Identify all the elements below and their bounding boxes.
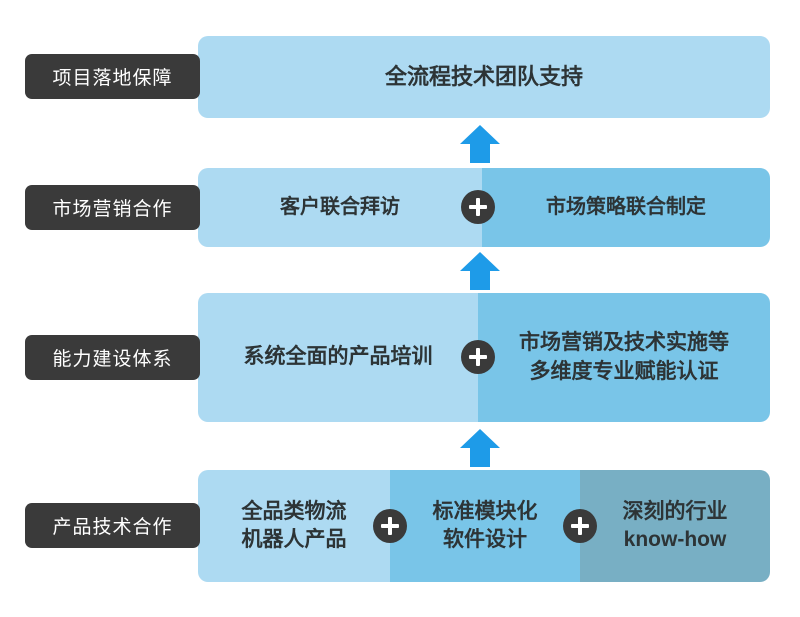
stage-label-text: 市场营销合作 xyxy=(52,194,172,221)
arrow-up-icon xyxy=(459,428,501,468)
stage-label-capability-building: 能力建设体系 xyxy=(25,335,200,380)
plus-circle-icon xyxy=(461,340,495,374)
stage-label-text: 能力建设体系 xyxy=(52,344,172,371)
stage-label-product-technology: 产品技术合作 xyxy=(25,503,200,548)
capability-pyramid-diagram: 项目落地保障 全流程技术团队支持 市场营销合作 客户联合拜访 市场策略联合制定 xyxy=(0,0,800,617)
stage-label-text: 产品技术合作 xyxy=(52,512,172,539)
stage-label-marketing-cooperation: 市场营销合作 xyxy=(25,185,200,230)
tier-segment: 市场营销及技术实施等 多维度专业赋能认证 xyxy=(478,293,770,422)
tier-segment-text: 客户联合拜访 xyxy=(280,194,400,221)
tier-segment: 标准模块化 软件设计 xyxy=(390,470,580,582)
tier-segment: 深刻的行业 know-how xyxy=(580,470,770,582)
tier-segment: 系统全面的产品培训 xyxy=(198,293,478,422)
tier-segment-text: 标准模块化 软件设计 xyxy=(433,498,538,555)
tier-row-project-delivery: 全流程技术团队支持 xyxy=(198,36,770,118)
arrow-up-icon xyxy=(459,124,501,164)
plus-circle-icon xyxy=(563,509,597,543)
tier-segment-text: 深刻的行业 know-how xyxy=(623,498,728,555)
tier-segment-text: 系统全面的产品培训 xyxy=(244,343,433,371)
tier-segment: 客户联合拜访 xyxy=(198,168,482,247)
tier-segment: 市场策略联合制定 xyxy=(482,168,770,247)
tier-segment-text: 市场策略联合制定 xyxy=(546,194,706,221)
tier-segment: 全品类物流 机器人产品 xyxy=(198,470,390,582)
stage-label-text: 项目落地保障 xyxy=(52,63,172,90)
arrow-up-icon xyxy=(459,251,501,291)
tier-segment-text: 全品类物流 机器人产品 xyxy=(242,498,347,555)
tier-segment: 全流程技术团队支持 xyxy=(198,36,770,118)
plus-circle-icon xyxy=(373,509,407,543)
plus-circle-icon xyxy=(461,190,495,224)
tier-segment-text: 全流程技术团队支持 xyxy=(385,62,583,92)
stage-label-project-delivery: 项目落地保障 xyxy=(25,54,200,99)
tier-row-product-technology: 全品类物流 机器人产品 标准模块化 软件设计 深刻的行业 know-how xyxy=(198,470,770,582)
tier-segment-text: 市场营销及技术实施等 多维度专业赋能认证 xyxy=(519,329,729,386)
